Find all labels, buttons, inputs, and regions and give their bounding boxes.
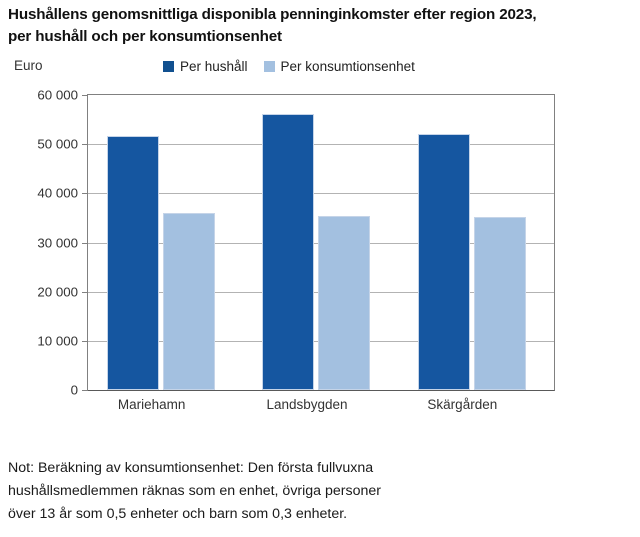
bar-groups xyxy=(88,95,554,390)
y-axis-tick-label: 40 000 xyxy=(37,186,78,201)
bar-per-hushall[interactable] xyxy=(418,134,470,390)
y-axis-tick-label: 0 xyxy=(71,383,78,398)
bar-per-hushall[interactable] xyxy=(107,136,159,390)
bar-group xyxy=(243,95,398,390)
bar-per-konsumtionsenhet[interactable] xyxy=(318,216,370,390)
x-axis-category-label: Landsbygden xyxy=(242,397,397,412)
note-line-2: hushållsmedlemmen räknas som en enhet, ö… xyxy=(8,480,628,503)
y-axis-tick xyxy=(82,390,88,391)
y-axis-tick-label: 30 000 xyxy=(37,236,78,251)
bar-group xyxy=(88,95,243,390)
y-axis-tick-label: 60 000 xyxy=(37,88,78,103)
bar-per-hushall[interactable] xyxy=(262,114,314,390)
note-line-1: Not: Beräkning av konsumtionsenhet: Den … xyxy=(8,457,628,480)
y-axis-tick-label: 10 000 xyxy=(37,334,78,349)
bar-group xyxy=(399,95,554,390)
y-axis-tick-label: 50 000 xyxy=(37,137,78,152)
x-axis-category-label: Mariehamn xyxy=(87,397,242,412)
x-axis-category-label: Skärgården xyxy=(398,397,553,412)
y-axis-tick-label: 20 000 xyxy=(37,285,78,300)
bar-per-konsumtionsenhet[interactable] xyxy=(474,217,526,390)
bar-per-konsumtionsenhet[interactable] xyxy=(163,213,215,390)
chart-page: Hushållens genomsnittliga disponibla pen… xyxy=(0,0,640,537)
plot-area: 60 00050 00040 00030 00020 00010 0000 xyxy=(87,94,555,391)
x-axis-category-labels: MariehamnLandsbygdenSkärgården xyxy=(87,397,553,412)
chart-note: Not: Beräkning av konsumtionsenhet: Den … xyxy=(8,457,628,526)
note-line-3: över 13 år som 0,5 enheter och barn som … xyxy=(8,503,628,526)
